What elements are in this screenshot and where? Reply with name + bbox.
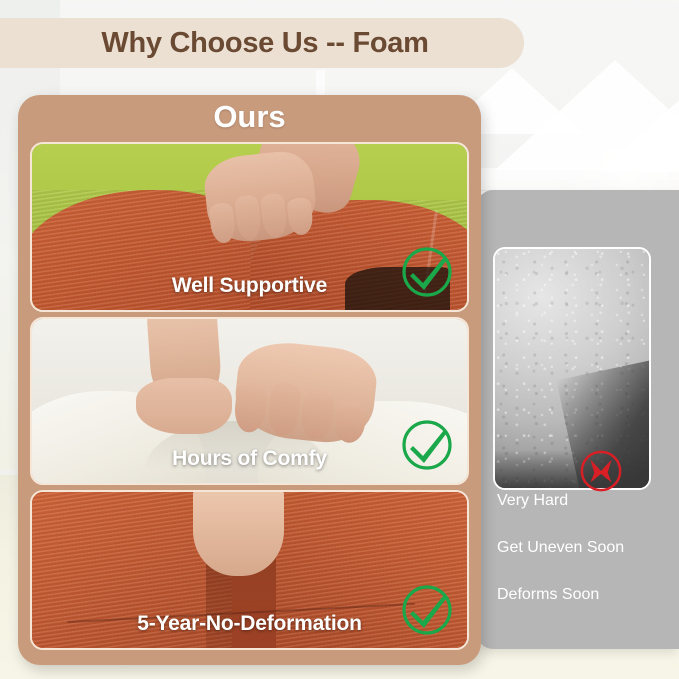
finger xyxy=(267,382,303,438)
title-banner: Why Choose Us -- Foam xyxy=(0,18,524,68)
finger xyxy=(233,382,269,434)
finger xyxy=(300,389,336,441)
green-check-icon xyxy=(399,244,455,300)
green-check-icon xyxy=(399,417,455,473)
page-title: Why Choose Us -- Foam xyxy=(0,27,524,60)
finger xyxy=(260,193,288,238)
ours-card-3: 5-Year-No-Deformation xyxy=(30,490,469,650)
infographic-canvas: Others Very Hard Get Uneven Soon Deforms… xyxy=(0,0,679,679)
house-gable-right-icon xyxy=(600,72,679,172)
others-list-item-1: Very Hard xyxy=(497,492,677,510)
ours-heading: Ours xyxy=(18,99,481,135)
others-list-item-2: Get Uneven Soon xyxy=(497,539,677,557)
ours-card-2: Hours of Comfy xyxy=(30,317,469,485)
finger xyxy=(234,194,262,241)
foot-sinking xyxy=(193,490,284,576)
hand-pressing xyxy=(232,338,380,447)
gray-foam-shadow-bottom xyxy=(493,450,651,488)
red-x-icon xyxy=(578,448,624,494)
green-check-icon xyxy=(399,582,455,638)
ours-card-1: Well Supportive xyxy=(30,142,469,312)
others-list-item-3: Deforms Soon xyxy=(497,586,677,604)
others-photo xyxy=(493,247,651,490)
hand-pressing xyxy=(202,149,319,246)
others-drawback-list: Very Hard Get Uneven Soon Deforms Soon xyxy=(497,492,677,633)
foot xyxy=(136,378,232,434)
